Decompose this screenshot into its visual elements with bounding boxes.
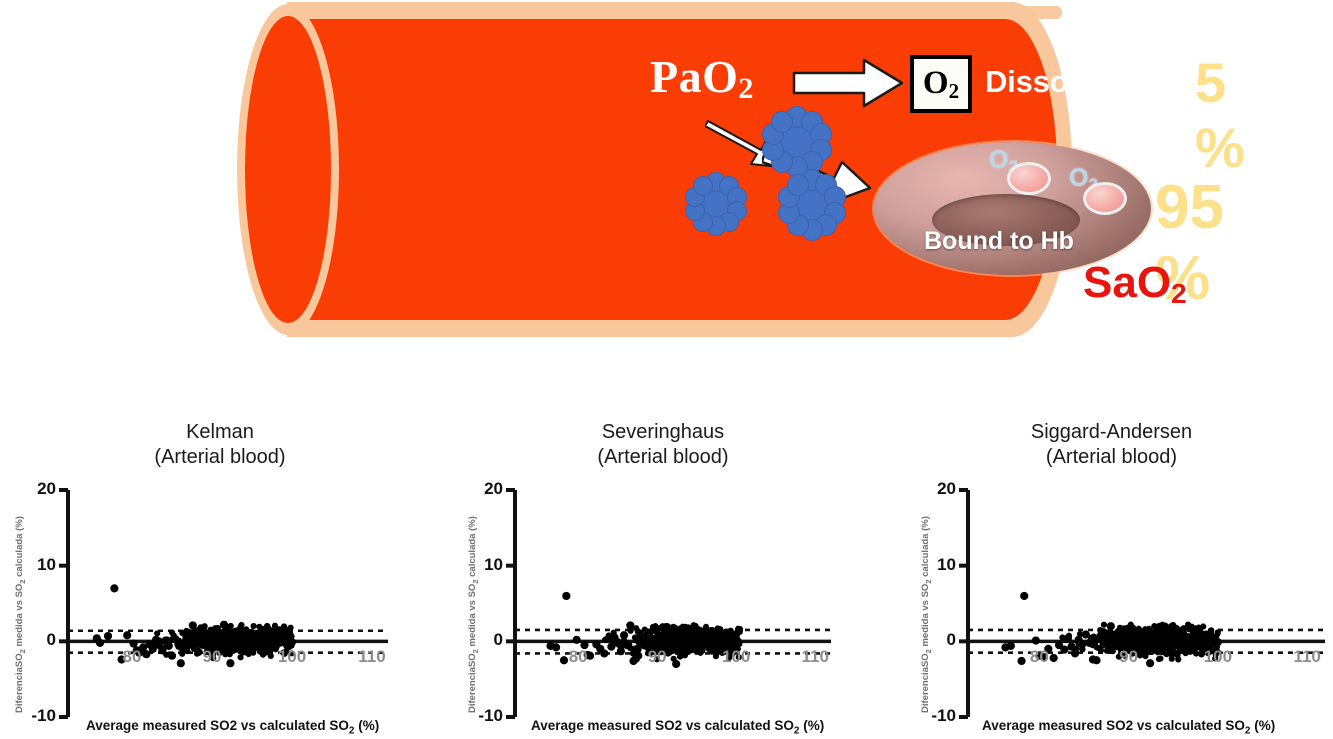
data-point bbox=[1064, 634, 1072, 642]
bland-altman-plot bbox=[890, 415, 1333, 739]
y-axis-tick-label: 0 bbox=[459, 630, 503, 650]
screenshot-root: PaO2 O2 Dissolved 5 % bbox=[0, 0, 1333, 739]
y-axis-tick-label: 10 bbox=[459, 555, 503, 575]
x-axis-tick-label: 110 bbox=[793, 647, 837, 667]
bound-o2-text: O bbox=[1069, 164, 1088, 192]
bland-altman-plot bbox=[0, 415, 440, 739]
x-axis-tick-label: 80 bbox=[1017, 647, 1061, 667]
x-axis-tick-label: 110 bbox=[1285, 647, 1329, 667]
data-point bbox=[1107, 622, 1115, 630]
y-axis-label: DiferenciaSO2 medida vs SO2 calculada (%… bbox=[467, 516, 480, 713]
data-point bbox=[626, 621, 634, 629]
o2-bubble-icon bbox=[1007, 162, 1051, 195]
x-axis-tick-label: 90 bbox=[1107, 647, 1151, 667]
bland-altman-plot bbox=[443, 415, 883, 739]
data-point bbox=[1171, 641, 1179, 649]
dissolved-label: Dissolved bbox=[985, 64, 1130, 100]
data-point bbox=[165, 642, 173, 650]
sao2-label: SaO2 bbox=[1083, 258, 1187, 310]
data-point bbox=[1085, 639, 1093, 647]
y-axis-tick-label: 10 bbox=[912, 555, 956, 575]
y-axis-label: DiferenciaSO2 medida vs SO2 calculada (%… bbox=[14, 516, 27, 713]
data-point bbox=[1071, 649, 1079, 657]
data-point bbox=[1164, 624, 1172, 632]
data-point bbox=[663, 623, 671, 631]
data-point bbox=[1082, 630, 1090, 638]
x-axis-tick-label: 80 bbox=[110, 647, 154, 667]
data-point bbox=[669, 633, 677, 641]
y-axis-tick-label: -10 bbox=[459, 706, 503, 726]
vessel-opening-fill bbox=[245, 16, 331, 323]
data-point bbox=[110, 584, 118, 592]
y-axis-tick-label: 20 bbox=[912, 479, 956, 499]
x-axis-tick-label: 100 bbox=[1196, 647, 1240, 667]
data-point bbox=[288, 638, 296, 646]
data-point bbox=[573, 636, 581, 644]
x-axis-label: Average measured SO2 vs calculated SO2 (… bbox=[531, 718, 824, 737]
x-axis-tick-label: 110 bbox=[350, 647, 394, 667]
x-axis-tick-label: 90 bbox=[635, 647, 679, 667]
data-point bbox=[168, 652, 176, 660]
x-axis-tick-label: 90 bbox=[190, 647, 234, 667]
pao2-text: PaO bbox=[650, 51, 738, 102]
data-point bbox=[96, 639, 104, 647]
y-axis-tick-label: 0 bbox=[912, 630, 956, 650]
data-point bbox=[644, 630, 652, 638]
data-point bbox=[1078, 640, 1086, 648]
x-axis-label: Average measured SO2 vs calculated SO2 (… bbox=[86, 718, 379, 737]
dissolved-o2-box: O2 bbox=[910, 55, 972, 113]
y-axis-label: DiferenciaSO2 medida vs SO2 calculada (%… bbox=[920, 516, 933, 713]
chart-panel-severinghaus: Severinghaus(Arterial blood)20100-108090… bbox=[443, 415, 883, 739]
data-point bbox=[562, 592, 570, 600]
data-point bbox=[179, 646, 187, 654]
data-point bbox=[1114, 633, 1122, 641]
data-point bbox=[614, 639, 622, 647]
chart-panel-siggard-andersen: Siggard-Andersen(Arterial blood)20100-10… bbox=[890, 415, 1333, 739]
sao2-subscript: 2 bbox=[1171, 278, 1187, 309]
oxygen-transport-diagram: PaO2 O2 Dissolved 5 % bbox=[0, 0, 1333, 360]
data-point bbox=[620, 631, 628, 639]
data-point bbox=[104, 632, 112, 640]
y-axis-tick-label: 20 bbox=[12, 479, 56, 499]
bound-o2-molecule-1: O2 bbox=[989, 146, 1018, 177]
sao2-text: SaO bbox=[1083, 258, 1171, 307]
data-point bbox=[1135, 632, 1143, 640]
data-point bbox=[1160, 638, 1168, 646]
data-point bbox=[623, 641, 631, 649]
x-axis-label: Average measured SO2 vs calculated SO2 (… bbox=[982, 718, 1275, 737]
hemoglobin-molecule bbox=[679, 167, 753, 241]
red-blood-cell: O2 O2 Bound to Hb bbox=[874, 142, 1151, 275]
x-axis-tick-label: 100 bbox=[270, 647, 314, 667]
data-point bbox=[1214, 638, 1222, 646]
data-point bbox=[1060, 646, 1068, 654]
x-axis-tick-label: 100 bbox=[714, 647, 758, 667]
data-point bbox=[656, 632, 664, 640]
bound-o2-text: O bbox=[989, 146, 1008, 174]
bound-o2-molecule-2: O2 bbox=[1069, 164, 1098, 195]
y-axis-tick-label: 20 bbox=[459, 479, 503, 499]
data-point bbox=[1007, 642, 1015, 650]
data-point bbox=[1128, 629, 1136, 637]
chart-panel-kelman: Kelman(Arterial blood)20100-108090100110… bbox=[0, 415, 440, 739]
dissolved-percent: 5 % bbox=[1195, 50, 1245, 180]
data-point bbox=[1150, 631, 1158, 639]
pao2-label: PaO2 bbox=[650, 50, 754, 106]
o2-box-text: O bbox=[923, 65, 949, 101]
x-axis-tick-label: 80 bbox=[556, 647, 600, 667]
data-point bbox=[1020, 592, 1028, 600]
data-point bbox=[177, 659, 185, 667]
y-axis-tick-label: -10 bbox=[912, 706, 956, 726]
data-point bbox=[617, 647, 625, 655]
hemoglobin-molecule bbox=[771, 164, 853, 246]
o2-bubble-icon bbox=[1083, 182, 1127, 215]
data-point bbox=[1032, 636, 1040, 644]
o2-box-subscript: 2 bbox=[949, 79, 960, 103]
blood-vessel-graphic: PaO2 O2 Dissolved 5 % bbox=[237, 2, 1072, 337]
data-point bbox=[220, 621, 228, 629]
data-point bbox=[189, 621, 197, 629]
data-point bbox=[732, 637, 740, 645]
pao2-subscript: 2 bbox=[738, 72, 754, 105]
data-point bbox=[1092, 656, 1100, 664]
data-point bbox=[1100, 628, 1108, 636]
vessel-top-highlight bbox=[332, 6, 1062, 19]
data-point bbox=[600, 649, 608, 657]
data-point bbox=[123, 631, 131, 639]
data-point bbox=[1142, 636, 1150, 644]
bound-to-hb-label: Bound to Hb bbox=[924, 227, 1074, 256]
